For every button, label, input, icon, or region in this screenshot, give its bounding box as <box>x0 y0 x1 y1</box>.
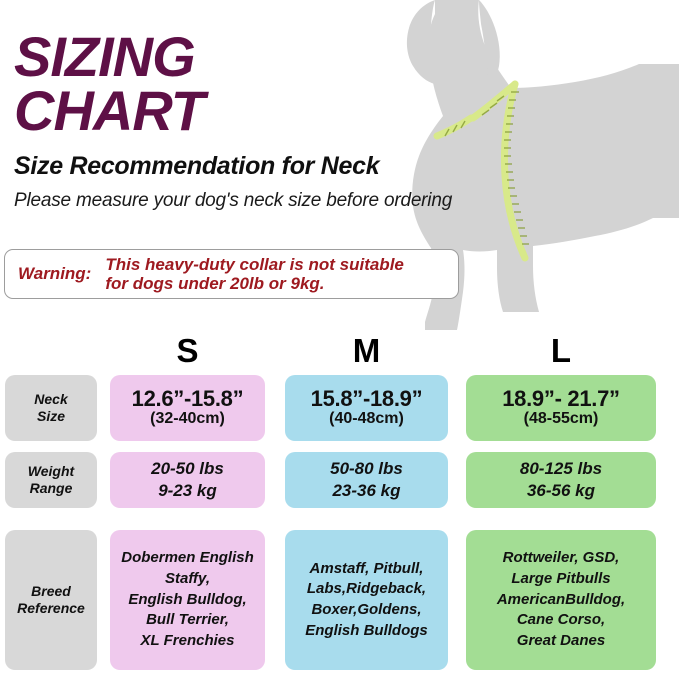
weight-range-cell-m: 50-80 lbs 23-36 kg <box>285 452 448 508</box>
table-row-neck-size: Neck Size 12.6”-15.8” (32-40cm) 15.8”-18… <box>0 372 679 448</box>
breed-reference-m-value: Amstaff, Pitbull, Labs,Ridgeback, Boxer,… <box>299 559 434 642</box>
row-label-weight-range: Weight Range <box>5 452 97 508</box>
weight-range-cell-s: 20-50 lbs 9-23 kg <box>110 452 265 508</box>
breed-reference-cell-l: Rottweiler, GSD, Large Pitbulls American… <box>466 530 656 670</box>
row-label-breed-reference: Breed Reference <box>5 530 97 670</box>
weight-range-s-value: 20-50 lbs 9-23 kg <box>151 458 224 502</box>
neck-size-l-cm: (48-55cm) <box>524 410 599 428</box>
neck-size-s-cm: (32-40cm) <box>150 410 225 428</box>
page-title: SIZING CHART <box>14 30 470 138</box>
row-label-neck-size: Neck Size <box>5 375 97 441</box>
table-row-weight-range: Weight Range 20-50 lbs 9-23 kg 50-80 lbs… <box>0 448 679 528</box>
neck-size-m-inches: 15.8”-18.9” <box>311 387 423 410</box>
breed-reference-cell-s: Dobermen English Staffy, English Bulldog… <box>110 530 265 670</box>
warning-box: Warning: This heavy-duty collar is not s… <box>4 249 459 299</box>
breed-reference-l-value: Rottweiler, GSD, Large Pitbulls American… <box>491 548 631 651</box>
warning-label: Warning: <box>18 264 91 284</box>
weight-range-cell-l: 80-125 lbs 36-56 kg <box>466 452 656 508</box>
neck-size-cell-l: 18.9”- 21.7” (48-55cm) <box>466 375 656 441</box>
neck-size-s-inches: 12.6”-15.8” <box>132 387 244 410</box>
neck-size-l-inches: 18.9”- 21.7” <box>502 387 619 410</box>
size-header-l: L <box>466 332 656 370</box>
size-header-s: S <box>110 332 265 370</box>
subtitle: Size Recommendation for Neck <box>14 152 470 181</box>
neck-size-cell-s: 12.6”-15.8” (32-40cm) <box>110 375 265 441</box>
sizing-table: Neck Size 12.6”-15.8” (32-40cm) 15.8”-18… <box>0 372 679 674</box>
size-header-m: M <box>285 332 448 370</box>
instruction-text: Please measure your dog's neck size befo… <box>14 190 470 212</box>
neck-size-cell-m: 15.8”-18.9” (40-48cm) <box>285 375 448 441</box>
warning-message: This heavy-duty collar is not suitable f… <box>105 255 404 293</box>
breed-reference-cell-m: Amstaff, Pitbull, Labs,Ridgeback, Boxer,… <box>285 530 448 670</box>
breed-reference-s-value: Dobermen English Staffy, English Bulldog… <box>115 548 260 651</box>
size-header-row: S M L <box>0 332 679 372</box>
table-row-breed-reference: Breed Reference Dobermen English Staffy,… <box>0 528 679 674</box>
weight-range-m-value: 50-80 lbs 23-36 kg <box>330 458 403 502</box>
header-block: SIZING CHART Size Recommendation for Nec… <box>0 0 470 212</box>
weight-range-l-value: 80-125 lbs 36-56 kg <box>520 458 602 502</box>
neck-size-m-cm: (40-48cm) <box>329 410 404 428</box>
